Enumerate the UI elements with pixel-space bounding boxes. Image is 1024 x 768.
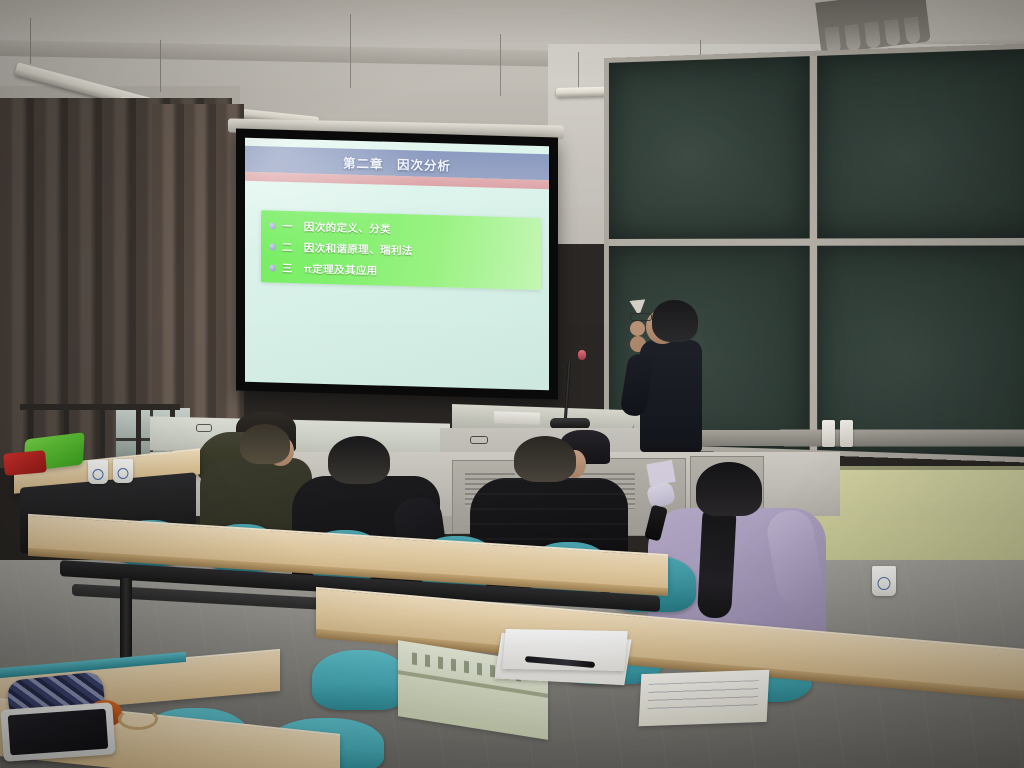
slide-bullet-text: 一 因次的定义、分类 <box>282 219 391 237</box>
attendee-hair <box>328 436 390 484</box>
classroom-photo: 第二章 因次分析 一 因次的定义、分类 二 因次和谐原理、瑞利法 三 π定理及其… <box>0 0 1024 768</box>
attendee-hair <box>514 436 576 482</box>
chalk-piece <box>822 420 835 447</box>
attendee-hair <box>240 424 290 464</box>
lamp-wire <box>500 34 501 96</box>
attendee-ponytail <box>697 501 737 619</box>
attendee-collar <box>646 460 675 486</box>
lamp-wire <box>350 14 351 88</box>
chalk-piece <box>840 420 853 447</box>
slide-bullet-text: 二 因次和谐原理、瑞利法 <box>282 240 413 259</box>
tablet[interactable] <box>0 702 115 762</box>
tablet-screen[interactable] <box>8 709 109 756</box>
slide-title: 第二章 因次分析 <box>343 152 451 174</box>
lecturer-hair <box>652 300 698 342</box>
lamp-wire <box>30 18 31 64</box>
lamp-wire <box>160 40 161 92</box>
paper-cup <box>113 459 133 483</box>
bullet-dot-icon <box>269 243 276 250</box>
slide-bullet-text: 三 π定理及其应用 <box>282 261 378 279</box>
slide-surface: 第二章 因次分析 一 因次的定义、分类 二 因次和谐原理、瑞利法 三 π定理及其… <box>245 138 549 390</box>
lecturer-collar <box>629 299 646 314</box>
curtain-middle <box>152 104 244 454</box>
chair[interactable] <box>312 650 408 710</box>
notebook <box>639 670 770 727</box>
glasses-icon <box>630 313 652 321</box>
lamp-wire <box>578 52 579 92</box>
slide-bullet-list: 一 因次的定义、分类 二 因次和谐原理、瑞利法 三 π定理及其应用 <box>261 210 541 290</box>
attendee-hair <box>696 462 762 516</box>
umbrella-strap <box>118 708 158 730</box>
microphone-head-icon <box>578 350 586 360</box>
lecturer-hand <box>630 321 645 336</box>
bullet-dot-icon <box>269 222 276 229</box>
red-item <box>3 450 47 476</box>
paper-cup <box>872 566 896 596</box>
paper-cup <box>88 460 108 484</box>
glasses-icon <box>196 424 212 432</box>
bullet-dot-icon <box>269 264 276 271</box>
glasses-icon <box>470 436 488 444</box>
lecturer <box>630 300 730 460</box>
podium-item <box>494 411 540 425</box>
projection-screen: 第二章 因次分析 一 因次的定义、分类 二 因次和谐原理、瑞利法 三 π定理及其… <box>236 129 558 400</box>
